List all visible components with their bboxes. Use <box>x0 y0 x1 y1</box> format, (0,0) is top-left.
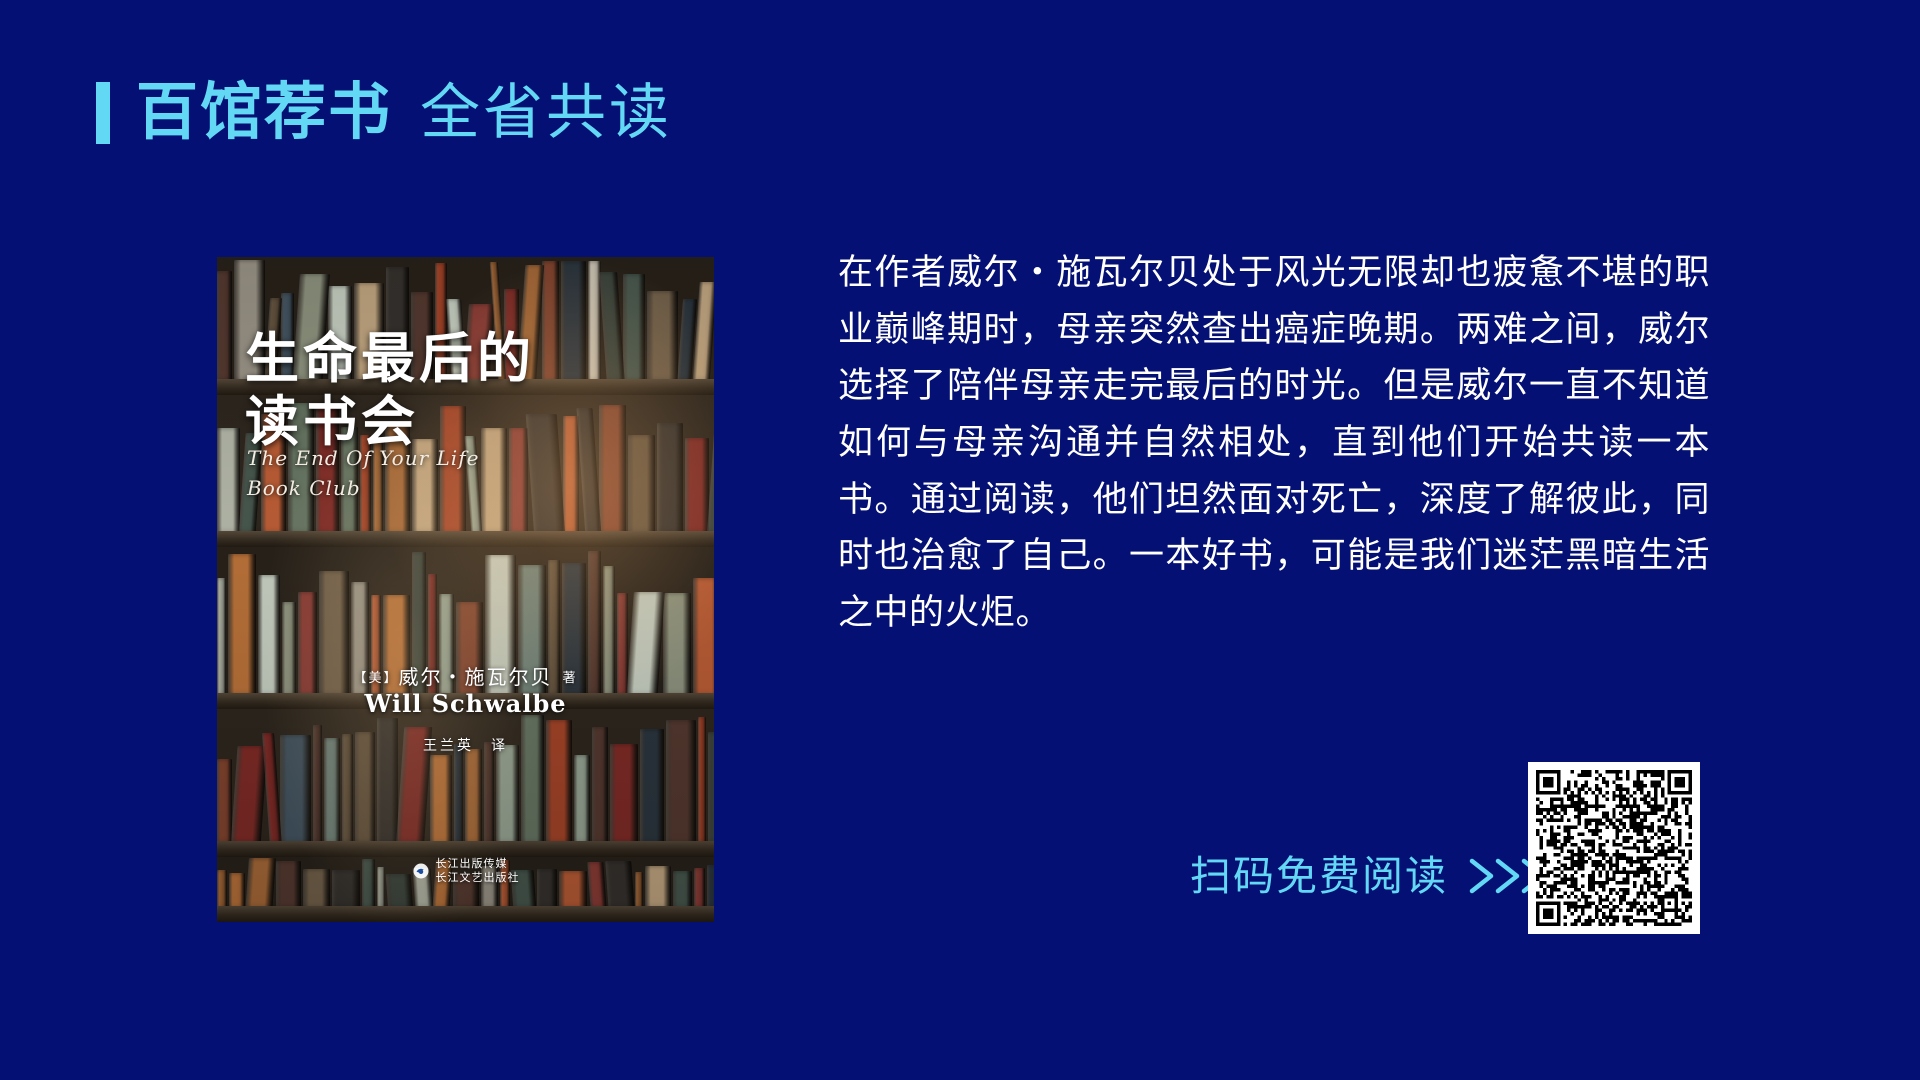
shelf-board <box>217 906 714 922</box>
publisher-names: 长江出版传媒 长江文艺出版社 <box>436 857 520 885</box>
qr-code[interactable] <box>1528 762 1700 934</box>
book-spine <box>217 271 232 385</box>
qr-code-matrix <box>1536 770 1692 926</box>
book-spine <box>657 423 683 537</box>
cover-author-name-cn: 威尔・施瓦尔贝 <box>399 665 553 689</box>
book-spine <box>599 272 625 385</box>
cover-author-chinese: 【美】威尔・施瓦尔贝著 <box>217 661 714 690</box>
publisher-line-2: 长江文艺出版社 <box>436 871 520 885</box>
page-subtitle: 全省共读 <box>420 83 672 143</box>
cover-subtitle-line-1: The End Of Your Life <box>247 443 479 473</box>
bookshelf-row <box>217 709 714 857</box>
book-spine <box>685 438 709 537</box>
cover-author-role: 著 <box>563 671 578 686</box>
book-spine <box>454 744 463 847</box>
book-spine <box>217 428 240 537</box>
cover-author-country: 【美】 <box>353 671 398 686</box>
book-spine <box>692 282 714 385</box>
scan-to-read-cta[interactable]: 扫码免费阅读 <box>1190 855 1556 897</box>
cover-title-line-1: 生命最后的 <box>245 327 535 390</box>
book-spine <box>576 408 601 537</box>
cover-translator: 王兰英 译 <box>217 735 714 755</box>
cover-subtitle-line-2: Book Club <box>247 473 479 503</box>
book-spine <box>430 755 452 847</box>
book-spine <box>628 435 655 537</box>
book-spine <box>230 746 267 847</box>
cover-subtitle: The End Of Your Life Book Club <box>247 443 479 503</box>
book-spine <box>217 759 232 847</box>
book-spine <box>542 261 559 385</box>
book-spine <box>484 742 494 847</box>
book-spine <box>647 291 678 385</box>
book-cover[interactable]: 生命最后的 读书会 The End Of Your Life Book Club… <box>217 257 714 922</box>
book-spine <box>574 755 590 847</box>
page-header: 百馆荐书 全省共读 <box>96 74 672 152</box>
book-spine <box>561 261 586 385</box>
scan-to-read-label: 扫码免费阅读 <box>1190 856 1448 897</box>
header-accent-bar <box>96 82 110 144</box>
cover-title: 生命最后的 读书会 <box>245 327 535 452</box>
publisher-line-1: 长江出版传媒 <box>436 857 520 871</box>
book-spine <box>496 745 519 847</box>
book-spine <box>563 416 579 537</box>
book-spine <box>599 405 626 537</box>
publisher-logo-icon <box>412 862 430 880</box>
shelf-board <box>217 841 714 857</box>
cover-publisher: 长江出版传媒 长江文艺出版社 <box>217 857 714 885</box>
book-description: 在作者威尔・施瓦尔贝处于风光无限却也疲惫不堪的职业巅峰期时，母亲突然查出癌症晚期… <box>838 245 1710 642</box>
poster-canvas: 百馆荐书 全省共读 生命最后的 读书会 The End Of Your Life… <box>0 0 1920 1080</box>
book-spine <box>623 274 645 385</box>
shelf-board <box>217 531 714 547</box>
page-title: 百馆荐书 <box>136 82 392 144</box>
book-spine <box>610 744 638 847</box>
book-spine <box>465 749 482 847</box>
cover-author-english: Will Schwalbe <box>217 689 714 718</box>
